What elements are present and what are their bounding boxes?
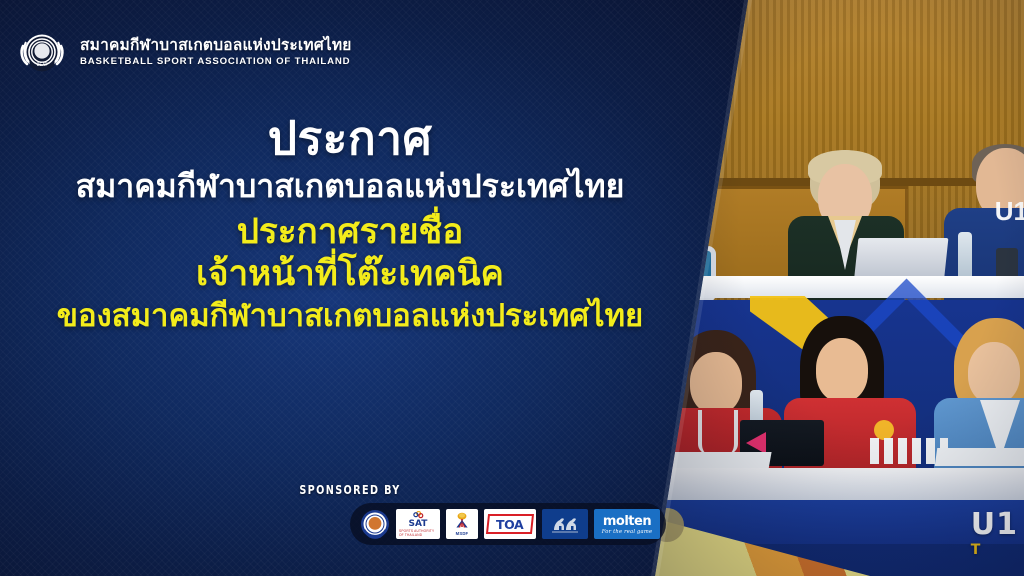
backdrop-text-sub: T — [971, 542, 1018, 558]
sponsor-msdf-text: MSDF — [456, 531, 469, 536]
sponsored-by-label: SPONSORED BY — [49, 482, 651, 497]
announcement-graphic: U1 U1 T — [0, 0, 1024, 576]
sponsor-logo-bar: SAT SPORTS AUTHORITY OF THAILAND MSDF TO… — [350, 503, 666, 545]
brand-text-block: สมาคมกีฬาบาสเกตบอลแห่งประเทศไทย BASKETBA… — [80, 37, 352, 68]
sponsor-molten-text: molten — [603, 514, 651, 529]
sponsor-sat-text: SAT — [409, 519, 428, 529]
headline-line-1: ประกาศ — [0, 112, 700, 164]
headline-line-2: สมาคมกีฬาบาสเกตบอลแห่งประเทศไทย — [0, 168, 700, 204]
sponsor-toa-text: TOA — [496, 517, 523, 532]
sponsor-logo-msdf: MSDF — [446, 509, 478, 539]
headline-line-3: ประกาศรายชื่อ — [0, 213, 700, 253]
possession-arrow-icon — [746, 432, 766, 454]
header: BSAT สมาคมกีฬาบาสเกตบอลแห่งประเทศไทย BAS… — [16, 26, 352, 78]
backdrop-text-lower: U1 T — [971, 507, 1018, 558]
svg-text:BSAT: BSAT — [37, 62, 48, 67]
backdrop-text-upper: U1 — [995, 196, 1024, 227]
toa-badge: TOA — [486, 514, 534, 534]
brand-name-thai: สมาคมกีฬาบาสเกตบอลแห่งประเทศไทย — [80, 37, 352, 55]
sponsor-logo-sat: SAT SPORTS AUTHORITY OF THAILAND — [396, 509, 440, 539]
basketball-association-emblem-icon: BSAT — [16, 26, 68, 78]
announcement-headline: ประกาศ สมาคมกีฬาบาสเกตบอลแห่งประเทศไทย ป… — [0, 112, 700, 334]
officials-table — [640, 468, 1024, 502]
sponsor-logo-molten: molten For the real game — [594, 509, 660, 539]
score-sheet-2 — [935, 448, 1024, 466]
sponsor-logo-basketball-association-thailand — [360, 509, 390, 539]
sponsor-logo-thai-beverage — [542, 509, 588, 539]
sponsor-sat-subtext: SPORTS AUTHORITY OF THAILAND — [399, 529, 437, 537]
headline-line-5: ของสมาคมกีฬาบาสเกตบอลแห่งประเทศไทย — [0, 299, 700, 334]
sponsor-logo-toa: TOA — [484, 509, 536, 539]
headline-line-4: เจ้าหน้าที่โต๊ะเทคนิค — [0, 255, 700, 295]
backdrop-text-main: U1 — [971, 507, 1018, 542]
brand-name-english: BASKETBALL SPORT ASSOCIATION OF THAILAND — [80, 56, 352, 67]
sponsor-molten-tagline: For the real game — [602, 529, 652, 535]
